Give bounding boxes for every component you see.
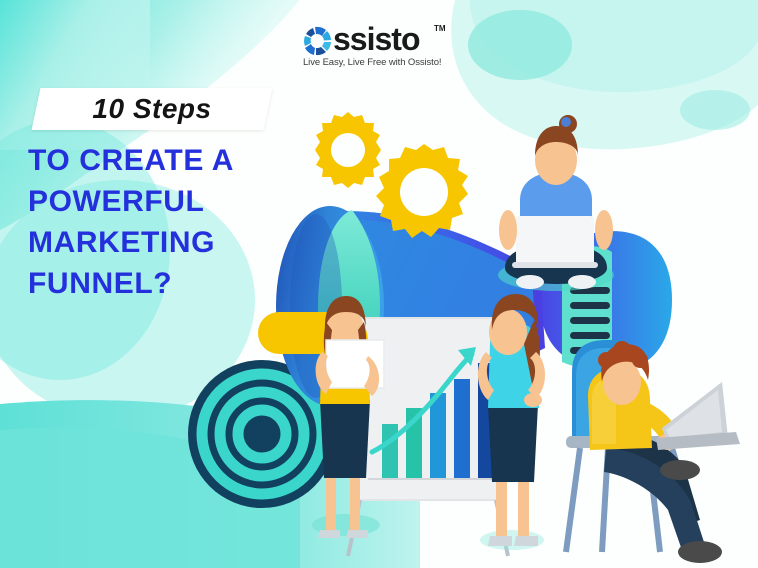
headline-line-1: TO CREATE A [28, 140, 328, 181]
headline-line-3: MARKETING [28, 222, 328, 263]
brand-tagline: Live Easy, Live Free with Ossisto! [303, 57, 453, 68]
woman-hand-on-hip [478, 294, 545, 550]
brand-logo[interactable]: ssisto TM Live Easy, Live Free with Ossi… [303, 22, 453, 72]
poster-canvas: ssisto TM Live Easy, Live Free with Ossi… [0, 0, 758, 568]
steps-banner-label: 10 Steps [36, 88, 268, 130]
logo-wordmark: ssisto [333, 22, 419, 56]
woman-holding-paper [312, 296, 384, 538]
page-title: TO CREATE A POWERFUL MARKETING FUNNEL? [28, 140, 328, 304]
trademark-symbol: TM [434, 24, 446, 33]
person-sitting-with-laptop [498, 115, 614, 291]
man-on-chair-with-laptop [566, 340, 740, 563]
headline-line-2: POWERFUL [28, 181, 328, 222]
segmented-ring-o-icon [303, 24, 333, 58]
headline-line-4: FUNNEL? [28, 263, 328, 304]
